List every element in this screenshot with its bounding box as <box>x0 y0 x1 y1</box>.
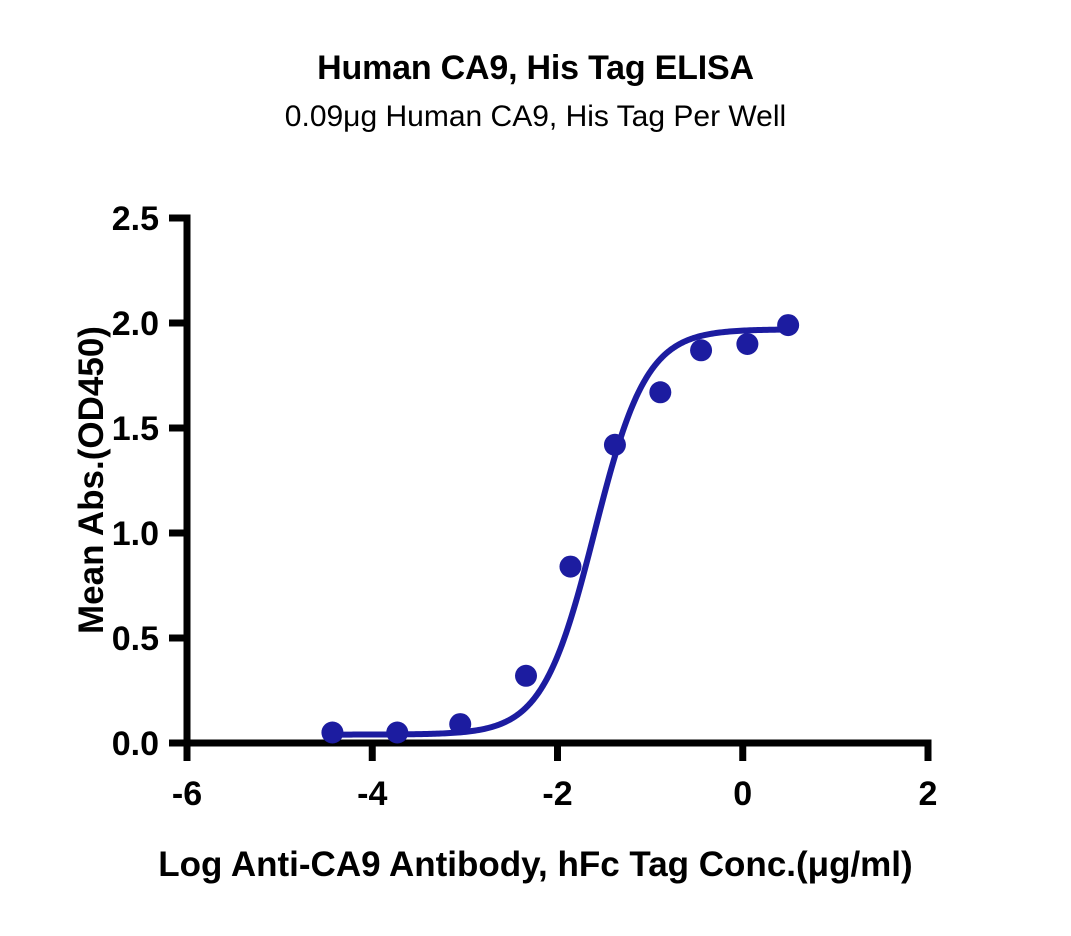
x-axis-tick-label: -6 <box>172 775 202 813</box>
y-axis-tick-label: 2.5 <box>112 200 159 238</box>
data-point <box>515 665 537 687</box>
data-point <box>559 556 581 578</box>
x-axis-tick-label: 2 <box>919 775 938 813</box>
y-axis-tick-label: 1.5 <box>112 410 159 448</box>
x-axis-tick-label: -2 <box>542 775 572 813</box>
data-point <box>449 713 471 735</box>
data-series <box>321 314 799 743</box>
x-axis-tick-label: -4 <box>357 775 387 813</box>
data-points <box>321 314 799 743</box>
x-axis-tick-labels: -6-4-202 <box>172 775 938 813</box>
y-axis-tick-label: 2.0 <box>112 305 159 343</box>
y-axis-tick-labels: 0.00.51.01.52.02.5 <box>112 200 159 763</box>
data-point <box>690 339 712 361</box>
axes: 0.00.51.01.52.02.5 -6-4-202 <box>112 200 938 813</box>
x-axis-tick-label: 0 <box>733 775 752 813</box>
data-point <box>321 722 343 744</box>
x-axis-label: Log Anti-CA9 Antibody, hFc Tag Conc.(μg/… <box>0 845 1071 885</box>
chart-figure: Human CA9, His Tag ELISA 0.09μg Human CA… <box>0 0 1071 936</box>
fit-curve <box>332 330 788 735</box>
data-point <box>604 434 626 456</box>
y-axis-tick-label: 0.5 <box>112 620 159 658</box>
plot-area: 0.00.51.01.52.02.5 -6-4-202 <box>0 0 1071 936</box>
y-axis-tick-label: 0.0 <box>112 725 159 763</box>
data-point <box>386 722 408 744</box>
data-point <box>777 314 799 336</box>
y-axis-label: Mean Abs.(OD450) <box>72 220 112 740</box>
data-point <box>649 381 671 403</box>
data-point <box>736 333 758 355</box>
y-axis-tick-label: 1.0 <box>112 515 159 553</box>
